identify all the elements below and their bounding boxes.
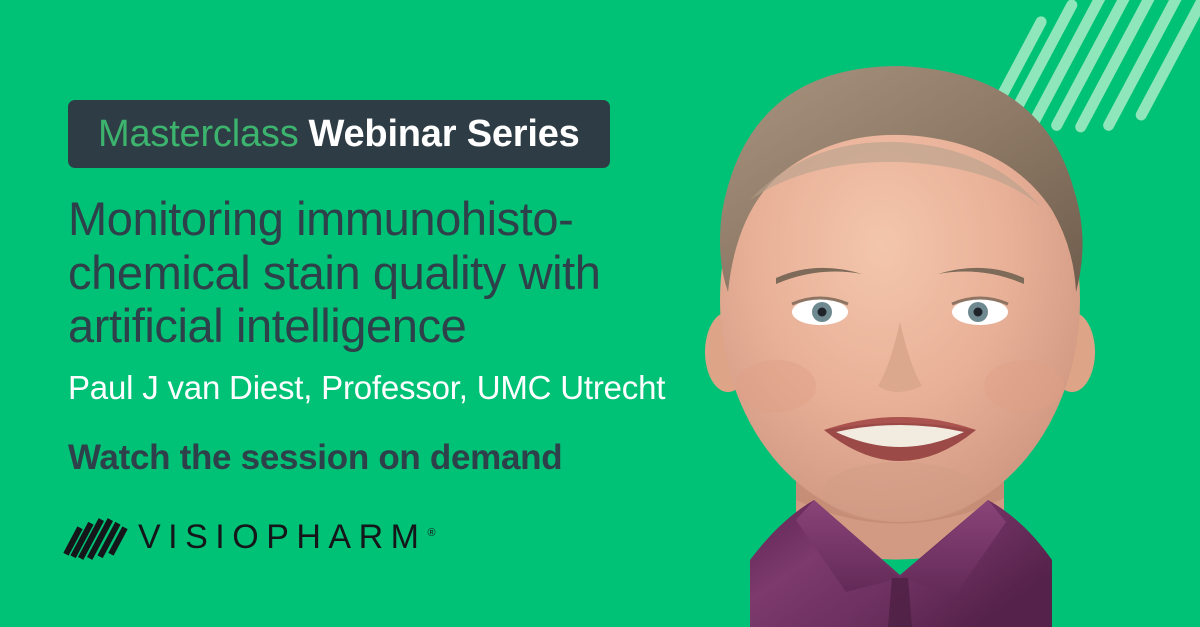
visiopharm-logo-mark-icon xyxy=(68,514,120,560)
webinar-promo-banner: Masterclass Webinar Series Monitoring im… xyxy=(0,0,1200,627)
wordmark-text: VISIOPHARM xyxy=(138,518,426,556)
registered-trademark-icon: ® xyxy=(427,527,435,539)
visiopharm-logo[interactable]: VISIOPHARM® xyxy=(68,512,436,562)
badge-suffix-label: Webinar Series xyxy=(309,115,580,153)
cta-watch-on-demand[interactable]: Watch the session on demand xyxy=(68,437,562,479)
headline-title: Monitoring immunohisto-chemical stain qu… xyxy=(68,192,688,353)
visiopharm-wordmark: VISIOPHARM® xyxy=(138,520,436,554)
masterclass-badge: Masterclass Webinar Series xyxy=(68,100,610,168)
speaker-name-label: Paul J van Diest, Professor, UMC Utrecht xyxy=(68,368,665,408)
badge-prefix-label: Masterclass xyxy=(98,115,299,153)
content-column: Masterclass Webinar Series Monitoring im… xyxy=(68,0,708,627)
